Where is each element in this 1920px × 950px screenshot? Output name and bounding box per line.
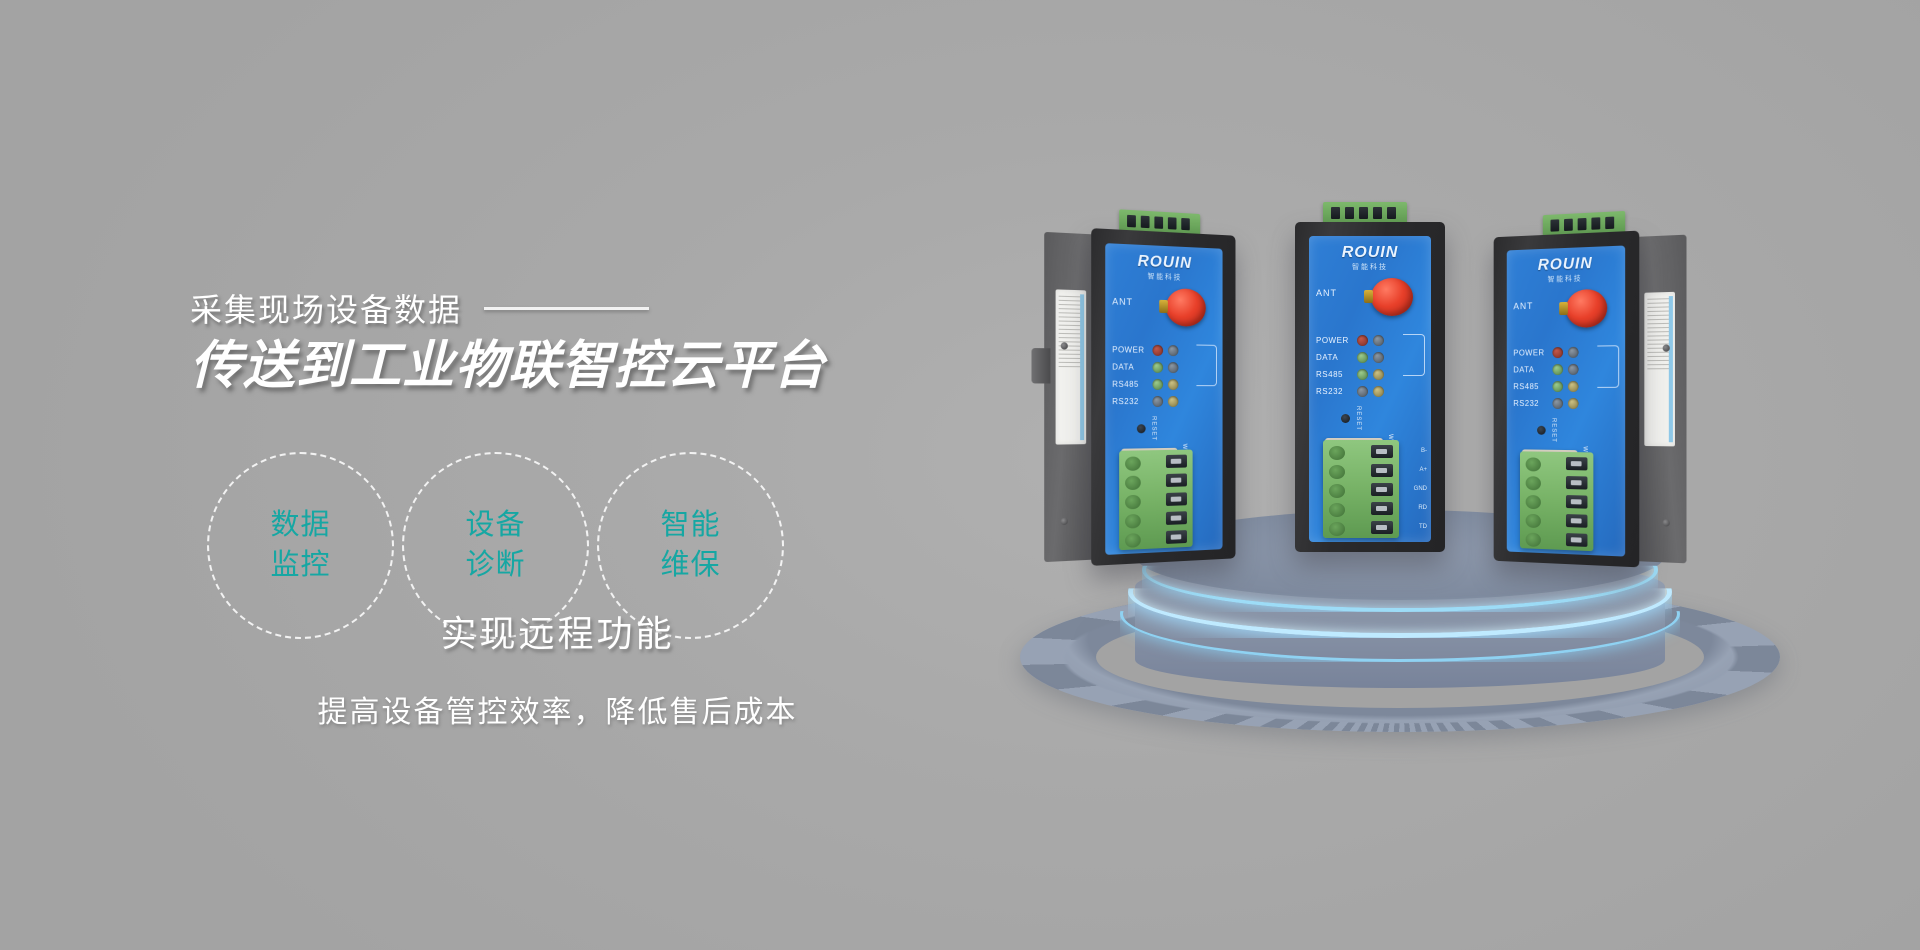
rs232-led-secondary — [1168, 396, 1179, 407]
feature-line-2: 诊断 — [465, 546, 525, 585]
data-led — [1357, 352, 1368, 363]
led-label: RS232 — [1316, 387, 1352, 396]
copy-block: 采集现场设备数据 传送到工业物联智控云平台 — [190, 285, 910, 397]
power-led-secondary — [1568, 347, 1579, 358]
led-label: POWER — [1316, 336, 1352, 345]
led-row: RS232 — [1513, 395, 1615, 412]
antenna-connector[interactable] — [1566, 289, 1607, 328]
rs485-led — [1552, 381, 1563, 392]
device-group: ROUIN 智能科技 ANT POWER DATA — [1080, 240, 1740, 660]
led-label: POWER — [1513, 348, 1547, 357]
status-bracket-icon — [1403, 334, 1425, 376]
feature-line-1: 设备 — [465, 506, 525, 545]
ant-label: ANT — [1112, 296, 1133, 307]
power-led-secondary — [1168, 345, 1179, 356]
led-label: RS485 — [1316, 370, 1352, 379]
data-led-secondary — [1373, 352, 1384, 363]
led-label: RS485 — [1513, 382, 1547, 391]
sub-title: 实现远程功能 — [190, 605, 925, 657]
antenna-connector[interactable] — [1166, 288, 1206, 327]
housing-screw — [1061, 342, 1068, 349]
serial-terminal-block[interactable] — [1323, 440, 1399, 538]
reset-button[interactable] — [1137, 424, 1146, 433]
headline-text: 传送到工业物联智控云平台 — [190, 337, 910, 397]
data-led-secondary — [1568, 364, 1579, 375]
device-housing-left — [1044, 232, 1097, 562]
product-scene: ROUIN 智能科技 ANT POWER DATA — [1000, 250, 1800, 750]
device-housing-right — [1633, 235, 1686, 564]
power-led — [1152, 345, 1163, 356]
gateway-device-left[interactable]: ROUIN 智能科技 ANT POWER DATA — [1091, 228, 1235, 566]
housing-screw — [1663, 344, 1670, 351]
data-led — [1152, 362, 1163, 373]
rs232-led — [1552, 398, 1563, 409]
feature-line-2: 维保 — [660, 546, 720, 585]
led-label: DATA — [1112, 362, 1147, 371]
led-label: RS232 — [1513, 399, 1547, 408]
reset-label: RESET — [1151, 416, 1157, 441]
power-led-secondary — [1373, 335, 1384, 346]
serial-terminal-block[interactable] — [1520, 451, 1593, 551]
eyebrow-rule — [484, 307, 649, 310]
rs232-led — [1357, 386, 1368, 397]
led-label: POWER — [1112, 345, 1147, 355]
device-side-label — [1644, 292, 1675, 447]
status-bracket-icon — [1597, 345, 1619, 388]
brand-logo: ROUIN — [1309, 244, 1431, 262]
terminal-pin-label: A+ — [1419, 467, 1427, 473]
promo-banner: 采集现场设备数据 传送到工业物联智控云平台 数据 监控 设备 诊断 智能 维保 … — [0, 0, 1920, 950]
led-row: RS232 — [1316, 383, 1421, 400]
device-side-label — [1056, 289, 1087, 444]
led-label: DATA — [1316, 353, 1352, 362]
brand-subtitle: 智能科技 — [1309, 262, 1431, 272]
eyebrow-row: 采集现场设备数据 — [190, 285, 910, 331]
data-led — [1552, 364, 1563, 375]
rs485-led — [1152, 379, 1163, 390]
power-led — [1357, 335, 1368, 346]
led-row: RS232 — [1112, 393, 1213, 410]
rs485-led — [1357, 369, 1368, 380]
rs232-led-secondary — [1568, 398, 1579, 409]
reset-label: RESET — [1551, 418, 1557, 443]
reset-button[interactable] — [1537, 426, 1546, 435]
led-label: RS485 — [1112, 380, 1147, 389]
terminal-pin-label: GND — [1414, 486, 1427, 492]
terminal-pin-label: RD — [1418, 505, 1427, 511]
gateway-device-right[interactable]: ROUIN 智能科技 ANT POWER DATA — [1494, 231, 1640, 568]
ant-label: ANT — [1513, 301, 1533, 311]
serial-terminal-block[interactable] — [1119, 450, 1192, 551]
antenna-connector[interactable] — [1371, 278, 1413, 316]
ant-label: ANT — [1316, 288, 1337, 298]
device-front-panel: ROUIN 智能科技 ANT POWER DATA — [1309, 236, 1431, 542]
rs232-led-secondary — [1373, 386, 1384, 397]
gateway-device-center[interactable]: ROUIN 智能科技 ANT POWER DATA — [1295, 222, 1445, 552]
terminal-pin-label: B- — [1421, 448, 1427, 454]
housing-screw — [1663, 519, 1670, 526]
terminal-pin-label: TD — [1419, 524, 1427, 530]
din-mount-tab — [1032, 348, 1051, 384]
data-led-secondary — [1168, 362, 1179, 373]
rs232-led — [1152, 396, 1163, 407]
device-front-panel: ROUIN 智能科技 ANT POWER DATA — [1507, 245, 1625, 556]
power-led — [1552, 347, 1563, 358]
rs485-led-secondary — [1168, 379, 1179, 390]
led-label: DATA — [1513, 365, 1547, 374]
feature-line-1: 数据 — [270, 506, 330, 545]
rs485-led-secondary — [1373, 369, 1384, 380]
reset-button[interactable] — [1341, 414, 1350, 423]
device-front-panel: ROUIN 智能科技 ANT POWER DATA — [1105, 243, 1222, 555]
sub-block: 实现远程功能 提高设备管控效率，降低售后成本 — [190, 605, 925, 731]
sub-description: 提高设备管控效率，降低售后成本 — [190, 687, 925, 731]
rs485-led-secondary — [1568, 381, 1579, 392]
eyebrow-text: 采集现场设备数据 — [190, 285, 462, 331]
led-label: RS232 — [1112, 397, 1147, 406]
feature-line-2: 监控 — [270, 546, 330, 585]
reset-label: RESET — [1355, 406, 1361, 431]
feature-line-1: 智能 — [660, 506, 720, 545]
status-bracket-icon — [1196, 345, 1217, 387]
